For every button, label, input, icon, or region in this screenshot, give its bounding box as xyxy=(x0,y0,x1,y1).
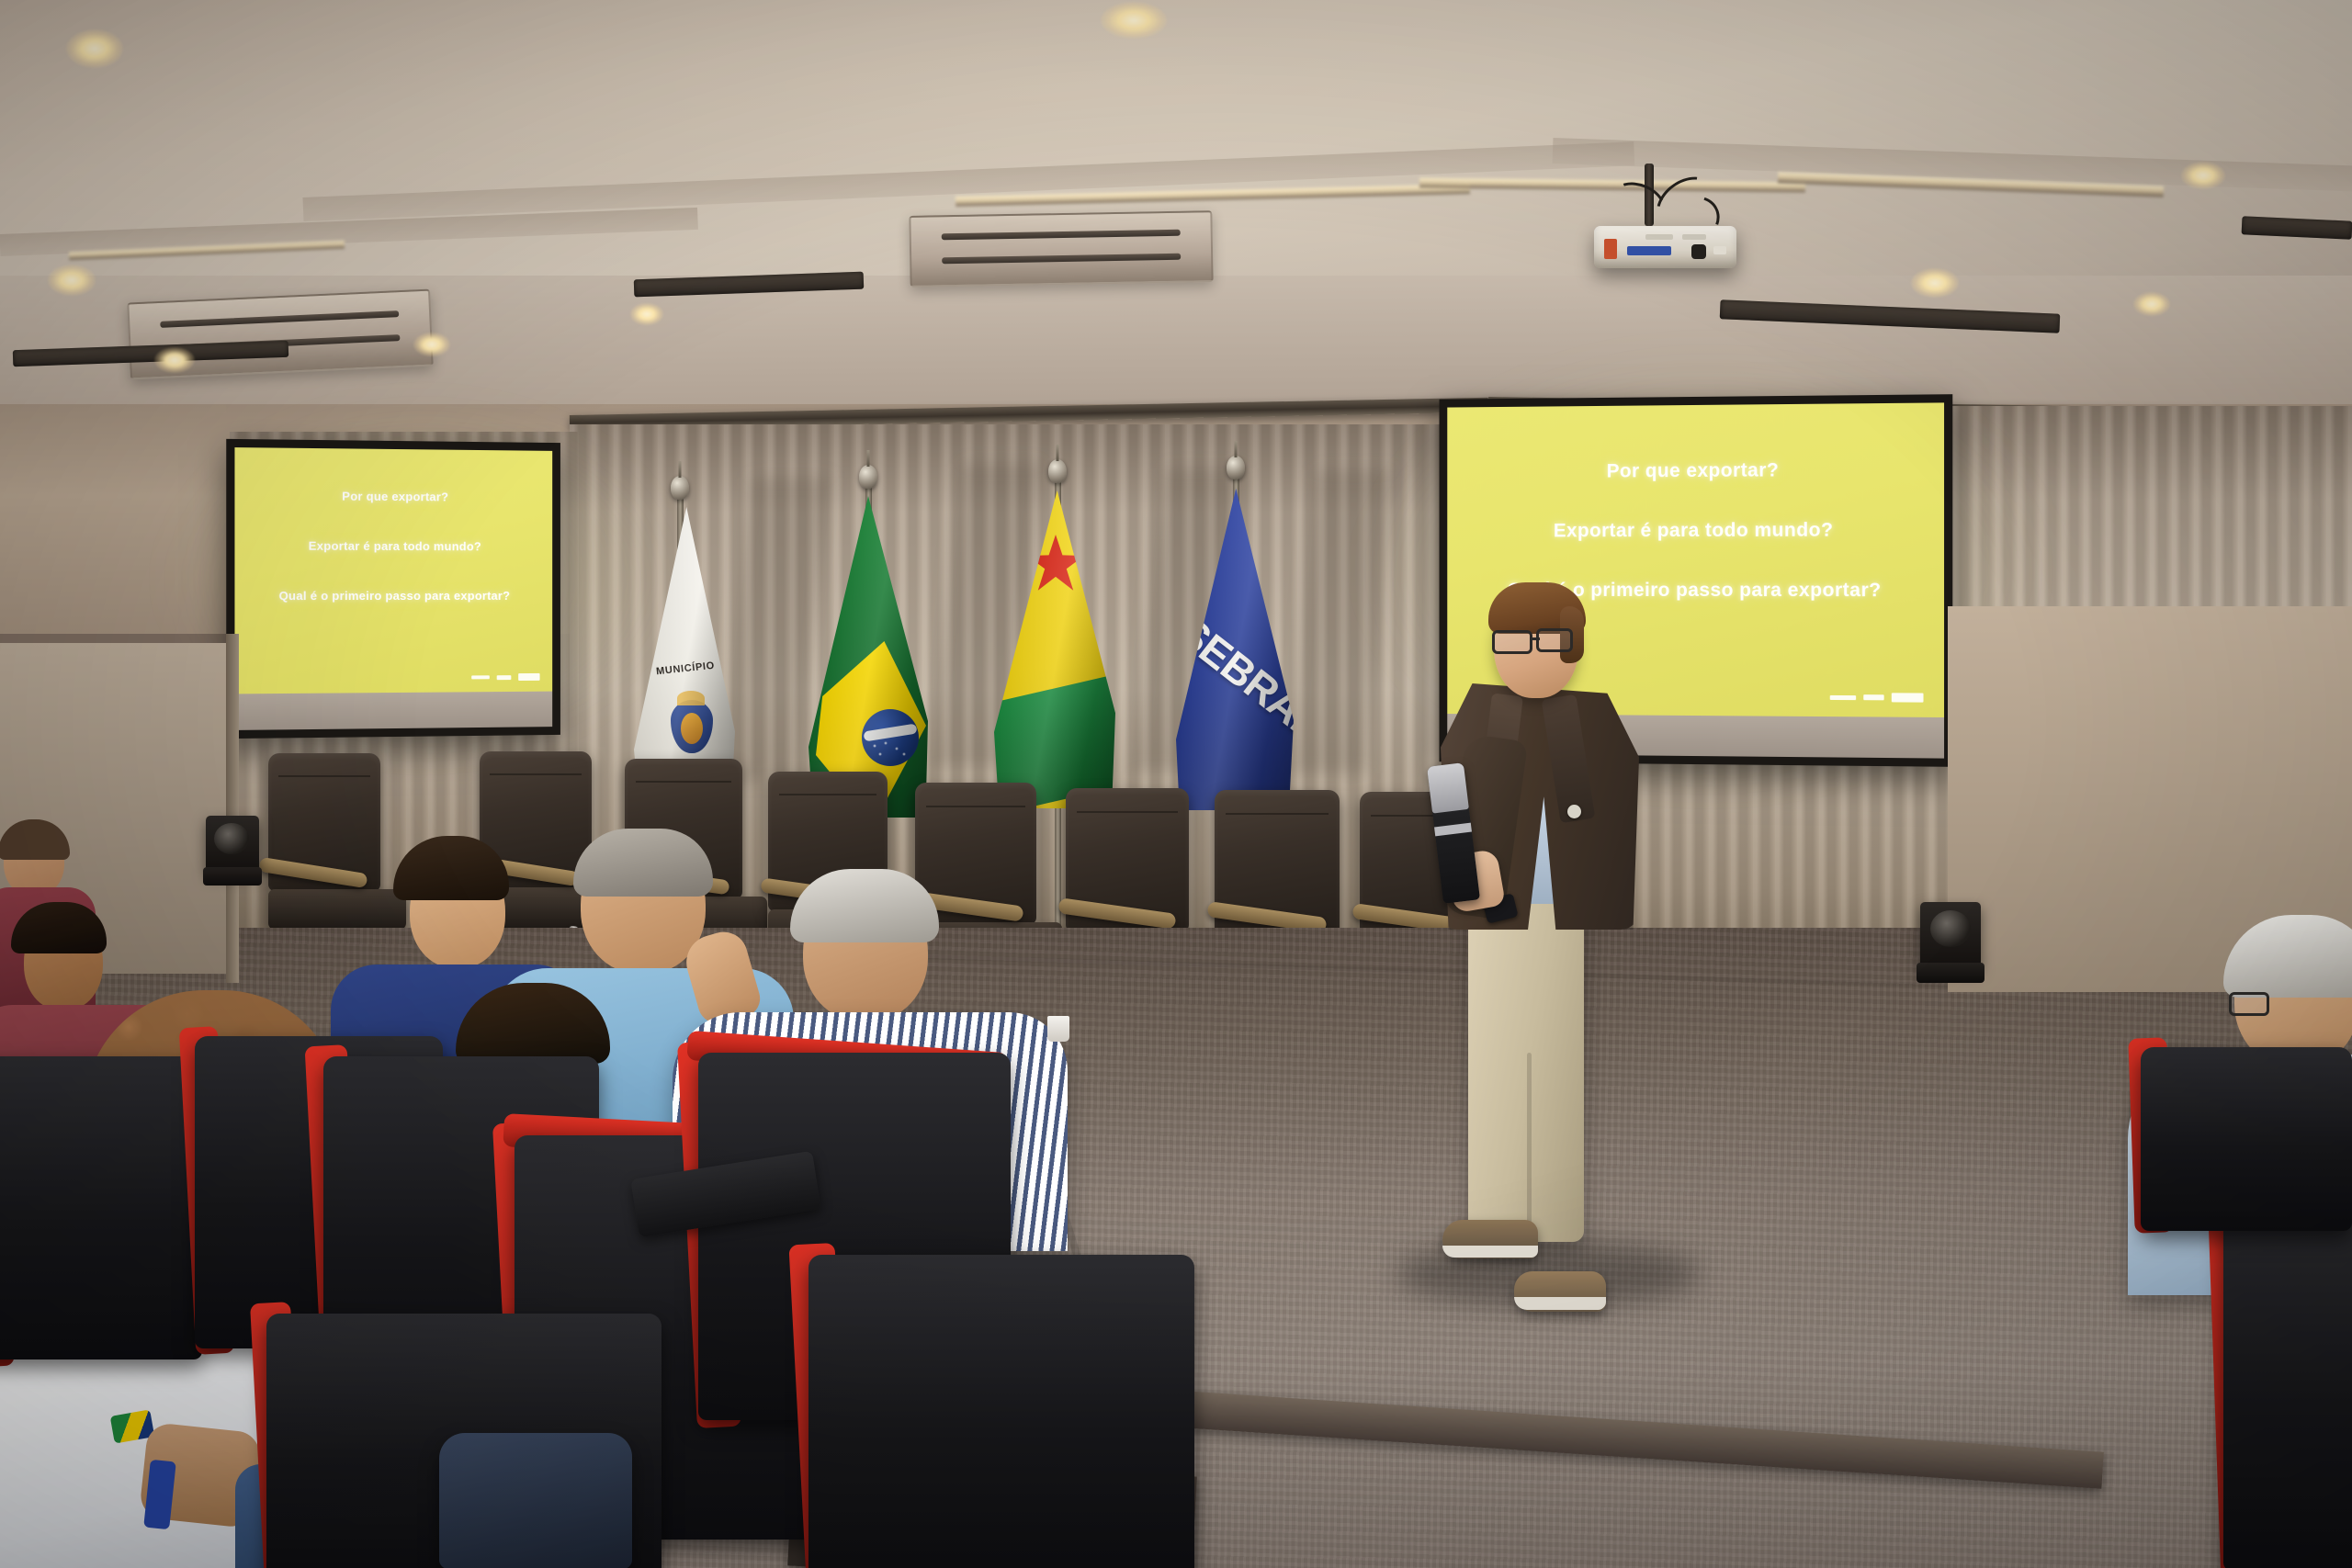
speaker xyxy=(1396,575,1700,1273)
slide-logo-1 xyxy=(471,675,490,679)
recessed-downlight-1 xyxy=(66,29,123,68)
brazil-stars xyxy=(869,740,913,761)
seat-shell xyxy=(2141,1047,2352,1231)
left-screen-skirt xyxy=(234,692,552,730)
hair xyxy=(393,836,509,900)
speaker-glasses-right-lens xyxy=(1536,628,1573,652)
projector-port-blue xyxy=(1627,246,1671,255)
recessed-downlight-4 xyxy=(413,333,450,356)
hair xyxy=(573,829,713,897)
recessed-downlight-2 xyxy=(48,265,96,296)
moving-light-lens xyxy=(214,823,249,854)
slide-logo-2 xyxy=(1863,694,1883,700)
projector-port-grey-2 xyxy=(1682,234,1706,240)
right-slide-line-2: Exportar é para todo mundo? xyxy=(1554,519,1834,542)
hair xyxy=(790,869,939,942)
finial-municipal xyxy=(671,476,689,500)
moving-light-base xyxy=(1917,963,1984,983)
stage-moving-light-right xyxy=(1920,902,1981,968)
left-slide-logos xyxy=(471,673,539,681)
projector-port-grey xyxy=(1645,234,1673,240)
audience-seat-6[interactable] xyxy=(808,1255,1194,1568)
glasses xyxy=(2229,992,2269,1016)
recessed-downlight-9 xyxy=(2133,292,2170,316)
speaker-lapel-pin xyxy=(1567,805,1581,818)
left-slide: Por que exportar? Exportar é para todo m… xyxy=(234,447,552,694)
seat-shell xyxy=(2223,1203,2352,1568)
paper-cup xyxy=(1047,1016,1069,1042)
speaker-glasses xyxy=(1492,630,1532,654)
slide-logo-2 xyxy=(497,675,512,680)
left-projection-screen: Por que exportar? Exportar é para todo m… xyxy=(226,439,560,739)
audience-seat-right-1[interactable] xyxy=(2223,1203,2352,1568)
seat-shell xyxy=(808,1255,1194,1568)
recessed-downlight-3 xyxy=(154,347,195,373)
projector-port-red xyxy=(1604,239,1617,259)
left-slide-line-2: Exportar é para todo mundo? xyxy=(309,539,481,554)
ac-cassette-vent-center xyxy=(909,210,1213,288)
speaker-shoe-left-sole xyxy=(1442,1246,1538,1258)
projector-port-dark xyxy=(1691,244,1706,259)
right-slide-line-1: Por que exportar? xyxy=(1607,459,1780,482)
recessed-downlight-5 xyxy=(630,303,663,325)
hair xyxy=(456,983,610,1064)
recessed-downlight-8 xyxy=(2181,162,2225,189)
hair xyxy=(11,902,107,953)
seat-shell xyxy=(0,1056,202,1359)
speaker-shoe-right-sole xyxy=(1514,1297,1606,1310)
finial-brazil xyxy=(859,465,877,489)
moving-light-lens xyxy=(1930,910,1971,947)
recessed-downlight-7 xyxy=(1911,268,1959,298)
municipal-emblem xyxy=(661,687,722,759)
conference-room-photo: Por que exportar? Exportar é para todo m… xyxy=(0,0,2352,1568)
microphone-grille xyxy=(1427,762,1469,813)
stage-moving-light-left xyxy=(206,816,259,873)
audience-seat-right-2[interactable] xyxy=(2141,1047,2352,1231)
slide-logo-3 xyxy=(518,673,539,681)
slide-logo-3 xyxy=(1892,693,1924,702)
ceiling-projector xyxy=(1594,226,1736,268)
finial-acre xyxy=(1048,459,1067,483)
backpack xyxy=(439,1433,632,1568)
microphone-band xyxy=(1434,823,1472,837)
speaker-trouser-seam xyxy=(1527,1053,1532,1236)
left-slide-line-1: Por que exportar? xyxy=(342,490,448,504)
right-slide-logos xyxy=(1830,693,1924,703)
left-wall-edge xyxy=(226,634,239,983)
recessed-downlight-6 xyxy=(1101,2,1167,39)
slide-logo-1 xyxy=(1830,694,1856,699)
speaker-trousers xyxy=(1468,878,1584,1242)
projector-port-white xyxy=(1713,246,1726,254)
finial-sebrae xyxy=(1227,456,1245,479)
moving-light-base xyxy=(203,867,263,886)
hair xyxy=(2223,915,2352,998)
speaker-glasses-bridge xyxy=(1531,637,1540,640)
audience-seat-1[interactable] xyxy=(0,1056,202,1359)
left-slide-line-3: Qual é o primeiro passo para exportar? xyxy=(279,589,511,603)
